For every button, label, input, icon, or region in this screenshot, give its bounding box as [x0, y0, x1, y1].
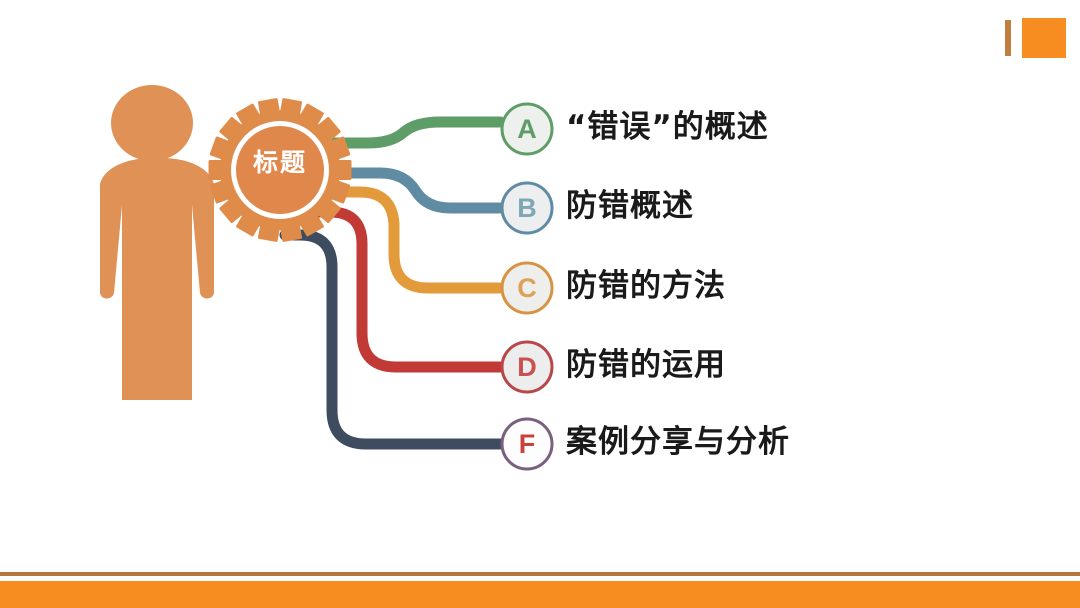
gear-tooth [339, 160, 352, 180]
gear-tooth [209, 160, 222, 180]
slide-canvas: 标题 A B C D F “错误”的概述 防错概述 防错的方法 防错的运用 案例… [0, 0, 1080, 608]
agenda-label-d[interactable]: 防错的运用 [566, 350, 726, 381]
agenda-label-c[interactable]: 防错的方法 [566, 271, 726, 302]
agenda-label-f[interactable]: 案例分享与分析 [566, 427, 790, 458]
badge-letter-f[interactable]: F [500, 431, 554, 458]
agenda-label-b[interactable]: 防错概述 [566, 191, 694, 222]
badge-letter-a[interactable]: A [500, 116, 554, 143]
badge-letter-d[interactable]: D [500, 354, 554, 381]
person-silhouette-icon [100, 85, 214, 400]
agenda-label-a[interactable]: “错误”的概述 [566, 112, 769, 143]
badge-letter-c[interactable]: C [500, 275, 554, 302]
badge-letter-b[interactable]: B [500, 195, 554, 222]
footer-thin-line [0, 572, 1080, 576]
diagram-artwork [0, 0, 1080, 608]
footer-orange-bar [0, 581, 1080, 608]
center-node-title: 标题 [232, 150, 328, 175]
